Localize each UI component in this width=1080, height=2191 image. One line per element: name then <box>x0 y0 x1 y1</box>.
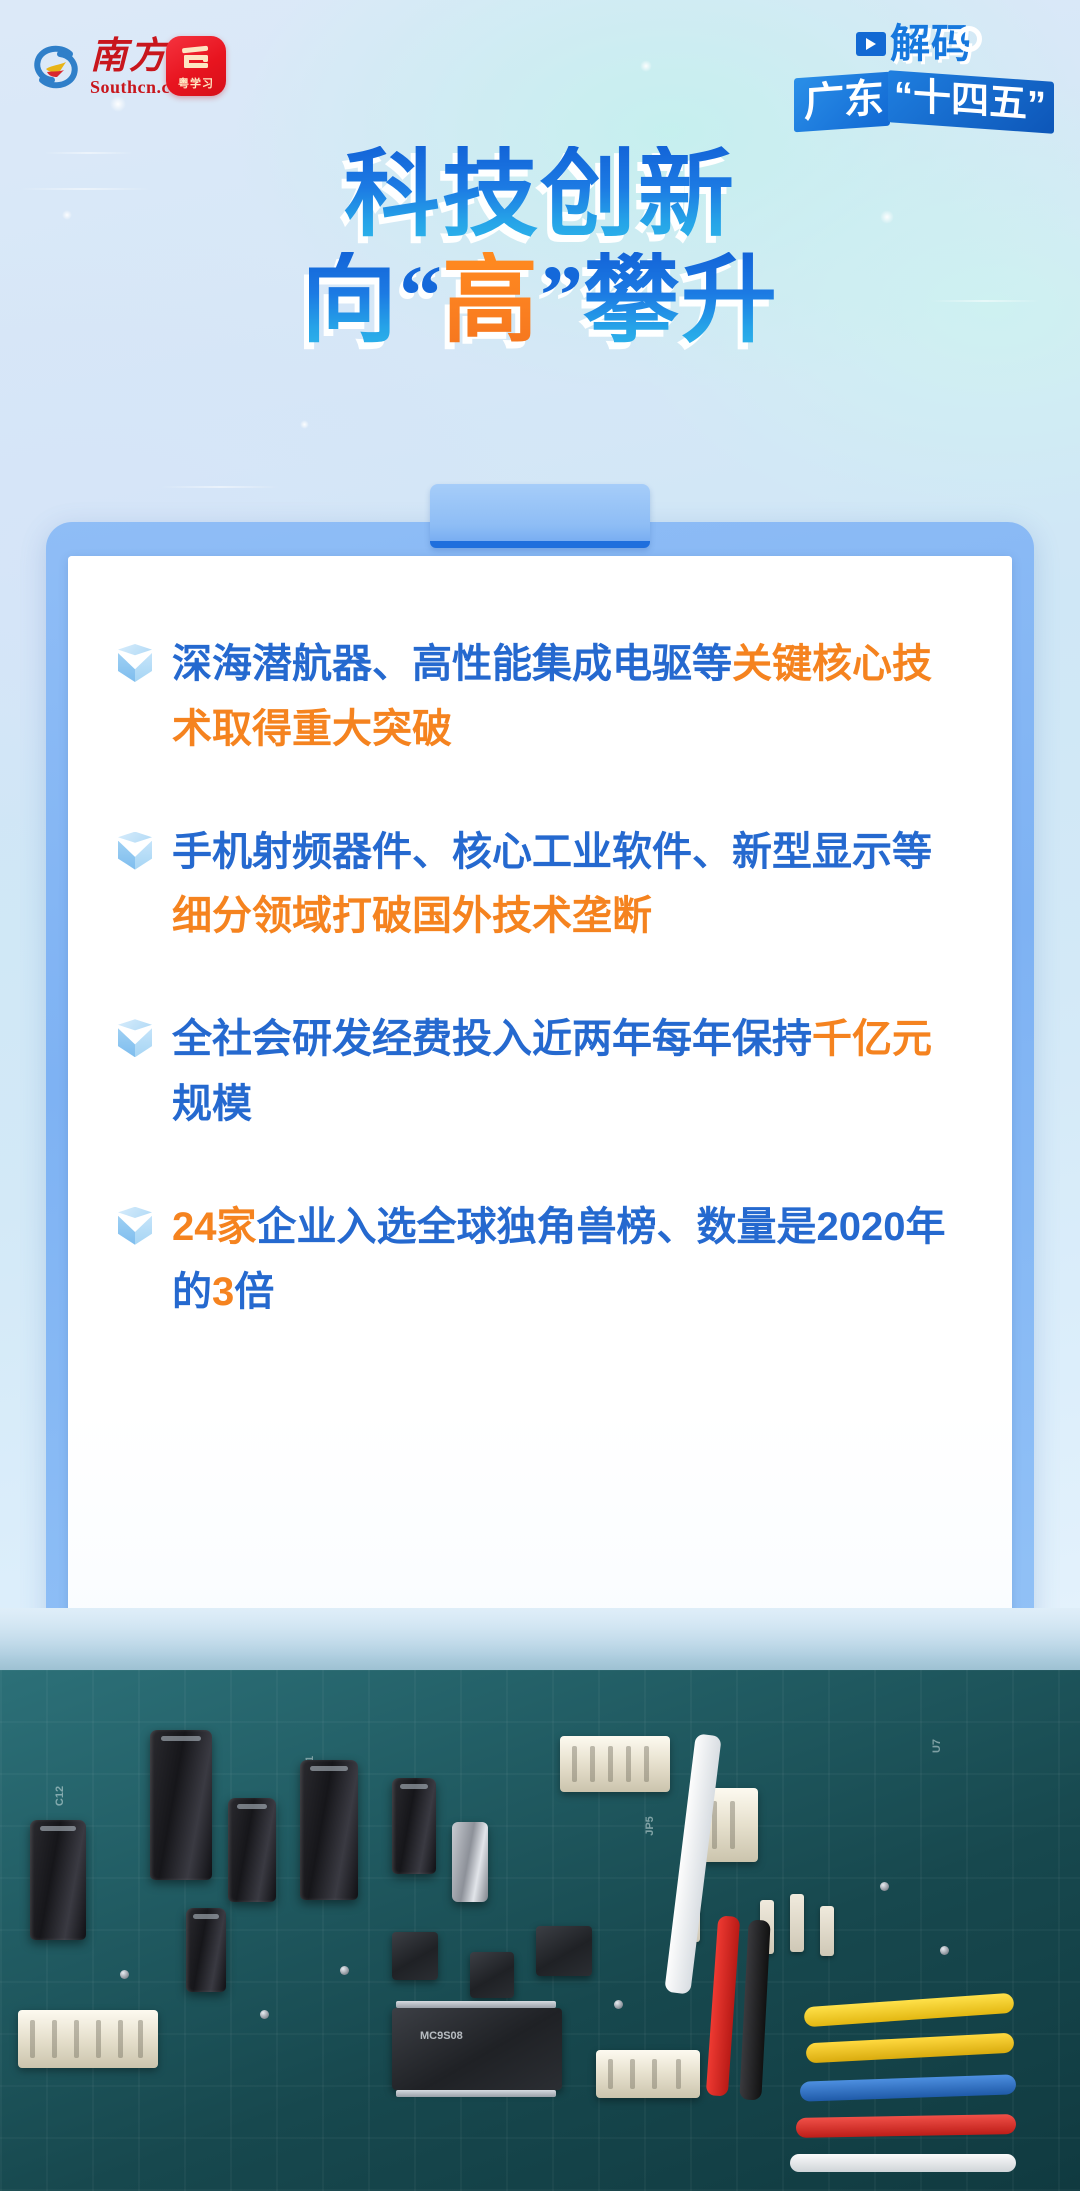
wire-red <box>796 2114 1016 2138</box>
bullet-2-text: 手机射频器件、核心工业软件、新型显示等细分领域打破国外技术垄断 <box>172 820 954 950</box>
bullet-2-seg-1: 细分领域打破国外技术垄断 <box>172 894 652 938</box>
title-line-2: 向“高”攀升 <box>0 252 1080 350</box>
yue-app-icon <box>176 43 216 73</box>
list-item: 全社会研发经费投入近两年每年保持千亿元规模 <box>118 1007 954 1137</box>
bullet-3-seg-2: 规模 <box>172 1082 252 1126</box>
badge-guangdong-box: 广东 <box>794 72 890 133</box>
wire-white <box>790 2154 1016 2172</box>
transistor <box>536 1926 592 1976</box>
title-line2-highlight: 高 <box>442 252 540 350</box>
cube-bullet-icon <box>118 832 152 870</box>
capacitor <box>150 1730 212 1880</box>
title-line-1: 科技创新 <box>0 146 1080 244</box>
poster-root: 南方网 Southcn.com 粤学习 解码 <box>0 0 1080 2191</box>
pcb-marking: C12 <box>54 1786 66 1806</box>
list-item: 手机射频器件、核心工业软件、新型显示等细分领域打破国外技术垄断 <box>118 820 954 950</box>
badge-line1: 解码 <box>856 24 972 64</box>
header-bar: 南方网 Southcn.com 粤学习 解码 <box>0 0 1080 150</box>
bullet-2-seg-0: 手机射频器件、核心工业软件、新型显示等 <box>172 830 932 874</box>
capacitor <box>228 1798 276 1902</box>
bullet-3-text: 全社会研发经费投入近两年每年保持千亿元规模 <box>172 1007 954 1137</box>
ic-leg <box>396 2090 556 2097</box>
magnifier-icon <box>956 26 982 52</box>
play-triangle-icon <box>856 32 886 56</box>
ic-marking: MC9S08 <box>420 2030 463 2042</box>
resistor <box>820 1906 834 1956</box>
title-quote-open: “ <box>399 252 442 340</box>
cube-bullet-icon <box>118 1207 152 1245</box>
circuit-board-photo: C12 R31 JP5 U7 <box>0 1608 1080 2191</box>
pin-connector <box>18 2010 158 2068</box>
streak-decor <box>160 486 280 488</box>
clipboard-clip <box>430 484 650 548</box>
pcb-surface: C12 R31 JP5 U7 <box>0 1670 1080 2191</box>
capacitor <box>392 1778 436 1874</box>
title-line1-text: 科技创新 <box>344 146 736 244</box>
yuexuexi-label: 粤学习 <box>178 75 214 91</box>
swirl-s-icon <box>30 41 82 93</box>
wire-blue <box>800 2074 1017 2102</box>
bullet-4-seg-1: 企业入选全球独角兽榜、数量是2020年的 <box>172 1205 945 1314</box>
bullet-4-seg-2: 3 <box>212 1270 234 1314</box>
ic-leg <box>396 2001 556 2008</box>
pin-connector <box>560 1736 670 1792</box>
title-quote-close: ” <box>540 252 583 340</box>
resistor <box>790 1894 804 1952</box>
cube-bullet-icon <box>118 644 152 682</box>
program-badge[interactable]: 解码 广东 “十四五” <box>794 24 1062 132</box>
badge-145-label: “十四五” <box>894 75 1046 128</box>
capacitor <box>30 1820 86 1940</box>
wire-yellow <box>806 2033 1015 2064</box>
solder-joint <box>940 1946 949 1955</box>
pcb-marking: U7 <box>931 1739 943 1753</box>
sparkle-decor <box>300 420 309 429</box>
solder-joint <box>260 2010 269 2019</box>
capacitor-silver <box>452 1822 488 1902</box>
bullet-1-seg-0: 深海潜航器、高性能集成电驱等 <box>172 642 732 686</box>
integrated-circuit <box>392 2008 562 2090</box>
wire-white <box>664 1733 721 1994</box>
wire-red <box>706 1915 741 2096</box>
wire-yellow <box>804 1993 1015 2028</box>
transistor <box>392 1932 438 1980</box>
pin-connector <box>596 2050 700 2098</box>
poster-title: 科技创新 向“高”攀升 <box>0 146 1080 350</box>
bullet-3-seg-0: 全社会研发经费投入近两年每年保持 <box>172 1017 812 1061</box>
bullet-4-text: 24家企业入选全球独角兽榜、数量是2020年的3倍 <box>172 1195 954 1325</box>
capacitor <box>300 1760 358 1900</box>
bullet-4-seg-3: 倍 <box>234 1270 274 1314</box>
solder-joint <box>120 1970 129 1979</box>
yuexuexi-logo[interactable]: 粤学习 <box>166 36 226 96</box>
wire-black <box>739 1920 770 2101</box>
capacitor <box>186 1908 226 1992</box>
list-item: 深海潜航器、高性能集成电驱等关键核心技术取得重大突破 <box>118 632 954 762</box>
bullet-1-text: 深海潜航器、高性能集成电驱等关键核心技术取得重大突破 <box>172 632 954 762</box>
badge-guangdong-label: 广东 <box>804 76 884 126</box>
bullet-4-seg-0: 24家 <box>172 1205 257 1249</box>
pcb-marking: JP5 <box>644 1816 656 1836</box>
solder-joint <box>880 1882 889 1891</box>
cube-bullet-icon <box>118 1019 152 1057</box>
title-line2-part-a: 向 <box>301 252 399 350</box>
solder-joint <box>614 2000 623 2009</box>
clipboard-card: 深海潜航器、高性能集成电驱等关键核心技术取得重大突破 手机射频器件、核心工业软件… <box>46 522 1034 1762</box>
transistor <box>470 1952 514 1998</box>
content-paper: 深海潜航器、高性能集成电驱等关键核心技术取得重大突破 手机射频器件、核心工业软件… <box>68 556 1012 1742</box>
badge-145-box: “十四五” <box>888 70 1054 134</box>
solder-joint <box>340 1966 349 1975</box>
badge-line2: 广东 “十四五” <box>794 72 1062 132</box>
bullet-3-seg-1: 千亿元 <box>812 1017 932 1061</box>
title-line2-part-c: 攀升 <box>583 252 779 350</box>
list-item: 24家企业入选全球独角兽榜、数量是2020年的3倍 <box>118 1195 954 1325</box>
